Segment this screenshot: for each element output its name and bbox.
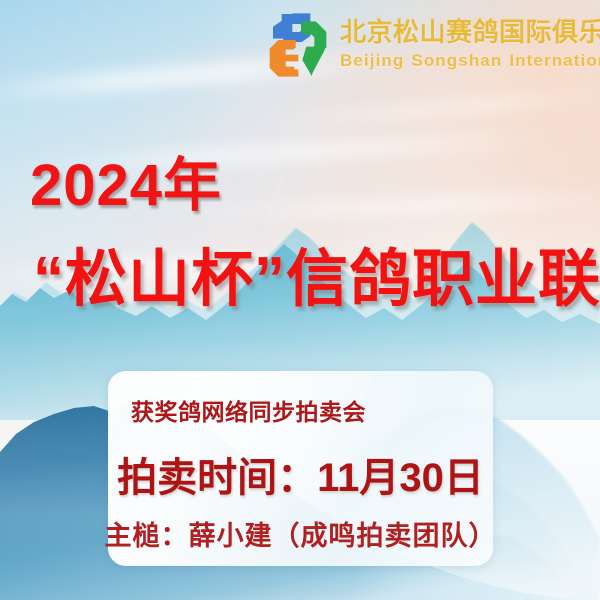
club-name-english-word-1: Beijing: [340, 51, 404, 70]
club-header: 北京松山赛鸽国际俱乐部 BeijingSongshanInternational: [263, 8, 600, 80]
songshan-interlocking-logo-icon: [263, 8, 331, 80]
club-name-english-word-3: International: [509, 51, 600, 70]
auction-time-text: 拍卖时间：11月30日: [117, 445, 484, 503]
auction-subtitle: 获奖鸽网络同步拍卖会: [131, 393, 366, 427]
poster-year-title: 2024年: [30, 138, 222, 222]
poster-main-title: “松山杯”信鸽职业联赛: [33, 228, 600, 318]
club-name-english: BeijingSongshanInternational: [340, 52, 600, 69]
auctioneer-text: 主槌：薛小建（成鸣拍卖团队）: [105, 514, 497, 553]
poster-canvas: 北京松山赛鸽国际俱乐部 BeijingSongshanInternational…: [0, 0, 600, 600]
club-name-english-word-2: Songshan: [411, 51, 502, 70]
brand-text-block: 北京松山赛鸽国际俱乐部 BeijingSongshanInternational: [340, 19, 600, 69]
auction-info-panel: 获奖鸽网络同步拍卖会 拍卖时间：11月30日 主槌：薛小建（成鸣拍卖团队）: [108, 371, 493, 566]
club-name-chinese: 北京松山赛鸽国际俱乐部: [340, 19, 600, 45]
